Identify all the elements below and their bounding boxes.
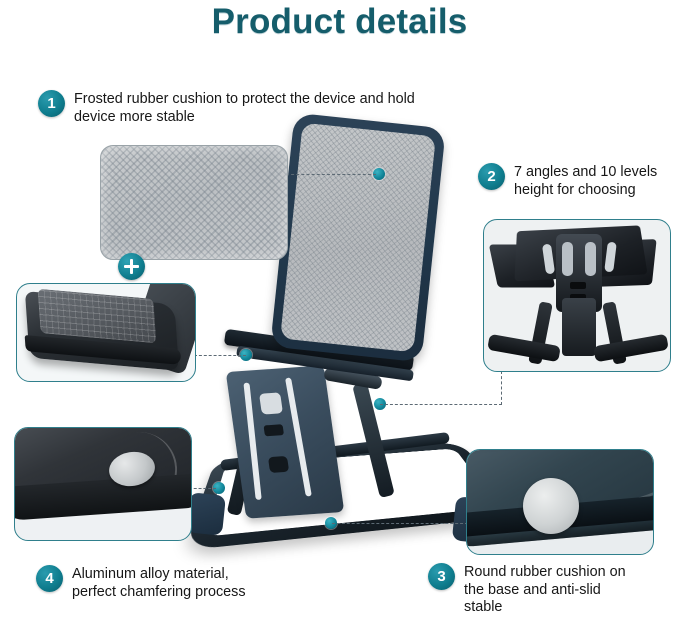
callout-1: 1 Frosted rubber cushion to protect the … (38, 90, 438, 126)
product-height-adjust-spine (226, 365, 345, 518)
callout-badge-4: 4 (36, 565, 63, 592)
callout-text-3: Round rubber cushion on the base and ant… (464, 563, 626, 617)
hinge-slot-left (562, 242, 573, 276)
product-frosted-pad-surface (280, 123, 436, 353)
callout-text-4: Aluminum alloy material, perfect chamfer… (72, 565, 246, 601)
hinge-foot-left (487, 334, 561, 362)
inset-hinge-mechanism-photo (483, 219, 671, 372)
spine-hole-top (259, 392, 283, 414)
inset-aluminum-edge-photo (14, 427, 192, 541)
round-rubber-cushion (523, 478, 579, 534)
callout-text-2: 7 angles and 10 levels height for choosi… (514, 163, 657, 199)
hinge-foot-right (593, 334, 669, 363)
spine-notch-mid (263, 424, 284, 436)
callout-badge-2: 2 (478, 163, 505, 190)
hinge-slot-right (585, 242, 596, 276)
hinge-leg-middle (562, 298, 596, 356)
product-back-panel (270, 113, 446, 363)
callout-badge-3: 3 (428, 563, 455, 590)
inset-rubber-pad-photo (16, 283, 196, 382)
callout-text-1: Frosted rubber cushion to protect the de… (74, 90, 415, 126)
plus-icon (118, 253, 145, 280)
connector-line-1b (194, 355, 246, 356)
hinge-notch-1 (570, 282, 586, 289)
inset-round-cushion-photo (466, 449, 654, 555)
connector-line-2-vertical (501, 371, 502, 405)
callout-2: 2 7 angles and 10 levels height for choo… (478, 163, 674, 199)
product-panel-notch-left (186, 492, 226, 536)
connector-line-2-horizontal (380, 404, 502, 405)
connector-line-3 (332, 523, 468, 524)
spine-notch-low (268, 456, 289, 473)
callout-4: 4 Aluminum alloy material, perfect chamf… (36, 565, 286, 601)
infographic-canvas: Product details (0, 0, 679, 626)
callout-badge-1: 1 (38, 90, 65, 117)
page-title: Product details (0, 2, 679, 42)
inset-frosted-rubber-swatch (100, 145, 288, 260)
callout-3: 3 Round rubber cushion on the base and a… (428, 563, 658, 617)
spine-rail-right (285, 378, 312, 497)
connector-line-1 (286, 174, 376, 175)
